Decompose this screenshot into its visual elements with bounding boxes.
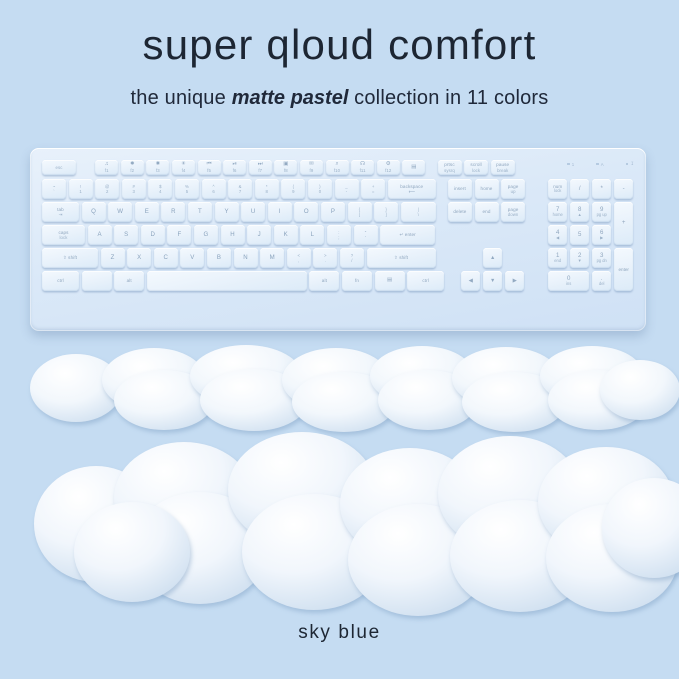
key-shift[interactable]: ⇧ shift [367,248,436,268]
subtitle-emphasis: matte pastel [232,87,349,109]
key-page[interactable]: pagedown [501,202,525,222]
key-legend: E [145,209,149,216]
key-sublegend: lock [554,189,561,194]
key-blank[interactable]: ▤ [375,271,405,291]
key-legend: delete [453,209,466,214]
key-legend: Z [111,255,115,262]
key-f4[interactable]: ☀f4 [172,160,195,175]
numpad-key--[interactable]: + [614,202,633,245]
numpad-key-8[interactable]: 8▲ [570,202,589,222]
key-legend-bottom: . [325,258,326,263]
key-5[interactable]: %5 [175,179,199,199]
key-caps[interactable]: capslock [42,225,85,245]
key-h[interactable]: H [221,225,245,245]
key-blank[interactable]: += [361,179,385,199]
numpad-key-9[interactable]: 9pg up [592,202,611,222]
led-indicator-group: 1A↧ [567,161,634,167]
key-sublegend: f6 [233,168,237,173]
key-sublegend: ▼ [578,259,582,264]
key-legend: U [251,209,256,216]
key-0[interactable]: )0 [308,179,332,199]
key-legend: alt [322,278,327,283]
key-legend: insert [454,186,466,191]
keyboard-row-function: esc♫f1✹f2✸f3☀f4⏮f5⏯f6⏭f7▣f8✉f9⌕f10☊f11⚙f… [42,160,517,175]
key-blank[interactable] [147,271,307,291]
key-f11[interactable]: ☊f11 [351,160,374,175]
key-legend: H [230,232,235,239]
key-legend: - [623,186,625,192]
key-delete[interactable]: delete [448,202,472,222]
key-legend-bottom: 3 [133,189,136,194]
key-legend: R [171,209,176,216]
led-dot [596,163,599,166]
key-f12[interactable]: ⚙f12 [377,160,400,175]
key-pause[interactable]: pausebreak [491,160,515,175]
key-legend: fn [355,278,359,283]
key-q[interactable]: Q [82,202,106,222]
key-legend: A [98,232,102,239]
key-f2[interactable]: ✹f2 [121,160,144,175]
key-blank[interactable]: ~` [42,179,66,199]
key-icon: ▤ [411,165,416,171]
numpad-key--[interactable]: * [592,179,611,199]
key-d[interactable]: D [141,225,165,245]
numpad-key--[interactable]: - [614,179,633,199]
keyboard-row-home: capslockASDFGHJKL:;"'↵ enter [42,225,438,245]
key-legend-bottom: 8 [266,189,269,194]
key-blank[interactable]: |\ [401,202,436,222]
key-insert[interactable]: insert [448,179,472,199]
key-legend-bottom: [ [359,212,360,217]
keyboard-row-qwerty: tab⇥QWERTYUIOP{[}]|\deleteendpagedown [42,202,528,222]
key-legend: Q [91,209,96,216]
key-9[interactable]: (9 [281,179,305,199]
key-blank[interactable]: _- [335,179,359,199]
key-w[interactable]: W [108,202,132,222]
key-backspace[interactable]: backspace⟵ [388,179,436,199]
key-legend-bottom: 9 [292,189,295,194]
scroll-lock-led: ↧ [626,161,634,167]
key-legend: O [304,209,309,216]
product-image: super qloud comfort the unique matte pas… [0,0,679,679]
key-sublegend: ins [566,282,571,287]
key-legend: L [311,232,315,239]
key-legend-bottom: ] [385,212,386,217]
led-label: ↧ [630,161,634,167]
key-gap [79,160,93,175]
key-blank[interactable]: }] [374,202,398,222]
key-blank[interactable]: <, [287,248,311,268]
key-gap [438,179,445,199]
key-sublegend: sysrq [444,168,455,173]
key-sublegend: f8 [284,168,288,173]
key-sublegend: f11 [360,168,366,173]
key-sublegend: f9 [310,168,314,173]
subtitle-suffix: collection in 11 colors [348,87,548,109]
key-legend: ⇧ shift [394,255,408,260]
key-sublegend: f7 [258,168,262,173]
key-2[interactable]: @2 [95,179,119,199]
key-legend: F [177,232,181,239]
key-f6[interactable]: ⏯f6 [223,160,246,175]
page-title: super qloud comfort [0,22,679,68]
key-sublegend: f12 [385,168,391,173]
key-legend-bottom: / [351,258,352,263]
key-legend-bottom: - [346,189,348,194]
key-sublegend: f4 [182,168,186,173]
key-ctrl[interactable]: ctrl [407,271,444,291]
key-c[interactable]: C [154,248,178,268]
key-legend-bottom: 7 [239,189,242,194]
key-gap [438,202,445,222]
key-esc[interactable]: esc [42,160,76,175]
key-k[interactable]: K [274,225,298,245]
key-sublegend: lock [472,168,480,173]
arrow-up-key[interactable]: ▲ [483,248,502,268]
key-legend: P [331,209,335,216]
key-legend: 5 [578,232,581,238]
key-sublegend: down [508,212,519,217]
key-enter[interactable]: ↵ enter [380,225,435,245]
key-v[interactable]: V [180,248,204,268]
key-u[interactable]: U [241,202,265,222]
key-n[interactable]: N [234,248,258,268]
key-blank[interactable]: ?/ [340,248,364,268]
key-home[interactable]: home [475,179,499,199]
key-shift[interactable]: ⇧ shift [42,248,98,268]
key-l[interactable]: L [300,225,324,245]
key-f10[interactable]: ⌕f10 [326,160,349,175]
key-legend: J [258,232,261,239]
key-alt[interactable]: alt [309,271,339,291]
numpad-key-1[interactable]: 1end [548,248,567,268]
key-blank[interactable]: ▤ [402,160,425,175]
key-legend: + [622,220,626,226]
led-dot [626,163,629,166]
key-tab[interactable]: tab⇥ [42,202,79,222]
cloud-bump [600,360,679,420]
key-sublegend: up [511,189,516,194]
key-o[interactable]: O [294,202,318,222]
cloud-bump [74,502,190,602]
color-name-caption: sky blue [0,622,679,644]
numpad-key--[interactable]: .del [592,271,611,291]
arrow-left-key[interactable]: ◀ [461,271,480,291]
key-blank[interactable]: {[ [348,202,372,222]
key-a[interactable]: A [88,225,112,245]
key-legend: M [270,255,275,262]
key-legend: N [243,255,248,262]
key-sublegend: ▲ [578,213,582,218]
key-legend: C [164,255,169,262]
key-blank[interactable]: :; [327,225,351,245]
key-legend: V [190,255,194,262]
numpad-key-enter[interactable]: enter [614,248,633,291]
key-8[interactable]: *8 [255,179,279,199]
arrow-key-cluster[interactable]: ▲◀▼▶ [461,248,524,291]
key-legend: ↵ enter [399,232,415,237]
key-alt[interactable]: alt [114,271,144,291]
key-legend-bottom: 5 [186,189,189,194]
key-sublegend: f3 [156,168,160,173]
key-sublegend: ◀ [556,236,559,241]
key-legend-bottom: 4 [159,189,162,194]
key-gap [428,160,435,175]
key-ctrl[interactable]: ctrl [42,271,79,291]
key-sublegend: ▶ [600,236,603,241]
keyboard-row-shift: ⇧ shiftZXCVBNM<,>.?/⇧ shift [42,248,438,268]
key-f7[interactable]: ⏭f7 [249,160,272,175]
key-j[interactable]: J [247,225,271,245]
key-f8[interactable]: ▣f8 [274,160,297,175]
key-sublegend: f1 [105,168,109,173]
key-sublegend: f10 [334,168,340,173]
key-legend-bottom: 1 [79,189,82,194]
key-legend: K [284,232,288,239]
caps-lock-led: A [596,161,604,167]
numpad-key-num[interactable]: numlock [548,179,567,199]
key-sublegend: pg up [597,213,607,218]
key-legend: T [198,209,202,216]
arrow-down-key[interactable]: ▼ [483,271,502,291]
key-g[interactable]: G [194,225,218,245]
key-s[interactable]: S [114,225,138,245]
key-sublegend: f5 [207,168,211,173]
key-page[interactable]: pageup [501,179,525,199]
key-z[interactable]: Z [101,248,125,268]
key-e[interactable]: E [135,202,159,222]
key-x[interactable]: X [127,248,151,268]
key-blank[interactable]: "' [354,225,378,245]
key-legend: D [151,232,156,239]
key-scroll[interactable]: scrolllock [464,160,488,175]
arrow-right-key[interactable]: ▶ [505,271,524,291]
key-b[interactable]: B [207,248,231,268]
key-legend: B [217,255,221,262]
key-sublegend: ⟵ [409,189,415,194]
key-legend-bottom: = [372,189,375,194]
key-sublegend: break [497,168,508,173]
key-legend: enter [618,267,628,272]
keyboard[interactable]: esc♫f1✹f2✸f3☀f4⏮f5⏯f6⏭f7▣f8✉f9⌕f10☊f11⚙f… [30,148,646,331]
key-blank[interactable] [82,271,112,291]
key-6[interactable]: ^6 [202,179,226,199]
key-legend: alt [127,278,132,283]
key-f3[interactable]: ✸f3 [146,160,169,175]
key-m[interactable]: M [260,248,284,268]
key-legend-bottom: 0 [319,189,322,194]
led-label: 1 [572,162,574,167]
key-blank[interactable]: >. [313,248,337,268]
subtitle-prefix: the unique [131,87,232,109]
key-1[interactable]: !1 [69,179,93,199]
key-legend: ctrl [57,278,64,283]
key-f5[interactable]: ⏮f5 [198,160,221,175]
led-label: A [601,162,604,167]
key-legend-bottom: 6 [212,189,215,194]
key-legend: ⇧ shift [63,255,77,260]
key-legend: ctrl [422,278,429,283]
key-i[interactable]: I [268,202,292,222]
numpad-key--[interactable]: / [570,179,589,199]
key-y[interactable]: Y [215,202,239,222]
key-legend-bottom: , [298,258,299,263]
key-r[interactable]: R [161,202,185,222]
keyboard-row-number: ~`!1@2#3$4%5^6&7*8(9)0_-+=backspace⟵inse… [42,179,528,199]
key-sublegend: end [554,259,561,264]
key-legend: I [279,209,281,216]
key-sublegend: pg dn [597,259,607,264]
page-subtitle: the unique matte pastel collection in 11… [0,86,679,110]
key-p[interactable]: P [321,202,345,222]
key-legend: W [117,209,123,216]
key-legend-bottom: ; [338,235,339,240]
numpad-key-3[interactable]: 3pg dn [592,248,611,268]
key-sublegend: lock [59,235,67,240]
key-f1[interactable]: ♫f1 [95,160,118,175]
key-legend: * [601,186,603,192]
numpad-key-7[interactable]: 7home [548,202,567,222]
key-legend: X [137,255,141,262]
key-3[interactable]: #3 [122,179,146,199]
key-legend-bottom: \ [418,212,419,217]
key-sublegend: f2 [130,168,134,173]
key-sublegend: ⇥ [59,212,63,217]
key-legend: Y [224,209,228,216]
key-legend: S [124,232,128,239]
key-legend-bottom: ` [53,189,55,194]
key-prtsc[interactable]: prtscsysrq [438,160,462,175]
key-f[interactable]: F [167,225,191,245]
numeric-keypad[interactable]: numlock/*-7home8▲9pg up+4◀56▶1end2▼3pg d… [548,179,634,291]
key-legend: end [483,209,491,214]
key-sublegend: home [553,213,563,218]
key-icon: ▤ [387,278,392,284]
key-f9[interactable]: ✉f9 [300,160,323,175]
key-legend-bottom: ' [365,235,366,240]
numpad-key-6[interactable]: 6▶ [592,225,611,245]
numpad-key-5[interactable]: 5 [570,225,589,245]
key-fn[interactable]: fn [342,271,372,291]
numpad-key-4[interactable]: 4◀ [548,225,567,245]
key-legend: esc [56,165,63,170]
keyboard-row-bottom: ctrlaltaltfn▤ctrl [42,271,447,291]
key-legend-bottom: 2 [106,189,109,194]
key-4[interactable]: $4 [148,179,172,199]
num-lock-led: 1 [567,161,574,167]
key-legend: / [579,186,581,192]
key-end[interactable]: end [475,202,499,222]
key-sublegend: del [599,282,604,287]
key-legend: home [481,186,493,191]
numpad-key-0[interactable]: 0ins [548,271,589,291]
key-7[interactable]: &7 [228,179,252,199]
key-t[interactable]: T [188,202,212,222]
cloud-mouse-pad[interactable] [14,432,674,604]
numpad-key-2[interactable]: 2▼ [570,248,589,268]
key-legend: G [204,232,209,239]
led-dot [567,163,570,166]
cloud-keyboard-wrist-rest[interactable] [14,344,674,428]
